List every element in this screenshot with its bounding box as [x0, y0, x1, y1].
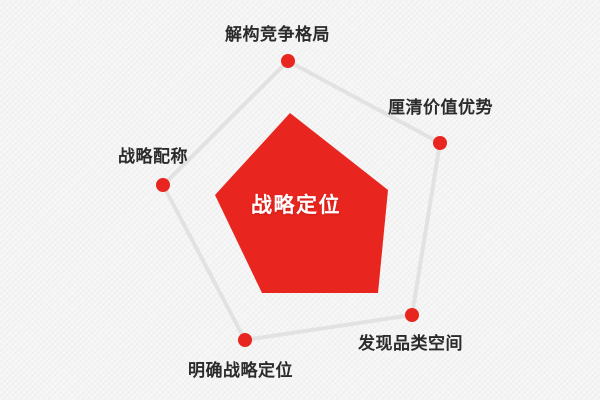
node-label-lower-left: 明确战略定位	[188, 363, 293, 380]
node-dot-right[interactable]	[433, 136, 447, 150]
diagram-canvas: 解构竞争格局 厘清价值优势 发现品类空间 明确战略定位 战略配称 战略定位	[0, 0, 600, 400]
node-dot-top[interactable]	[281, 54, 295, 68]
node-label-top: 解构竞争格局	[225, 27, 330, 44]
center-node-label: 战略定位	[251, 195, 341, 216]
node-dot-botleft[interactable]	[238, 333, 252, 347]
node-dot-left[interactable]	[156, 178, 170, 192]
node-label-upper-left: 战略配称	[118, 149, 188, 166]
node-label-upper-right: 厘清价值优势	[388, 100, 493, 117]
node-dot-botright[interactable]	[405, 308, 419, 322]
node-label-lower-right: 发现品类空间	[358, 336, 463, 353]
